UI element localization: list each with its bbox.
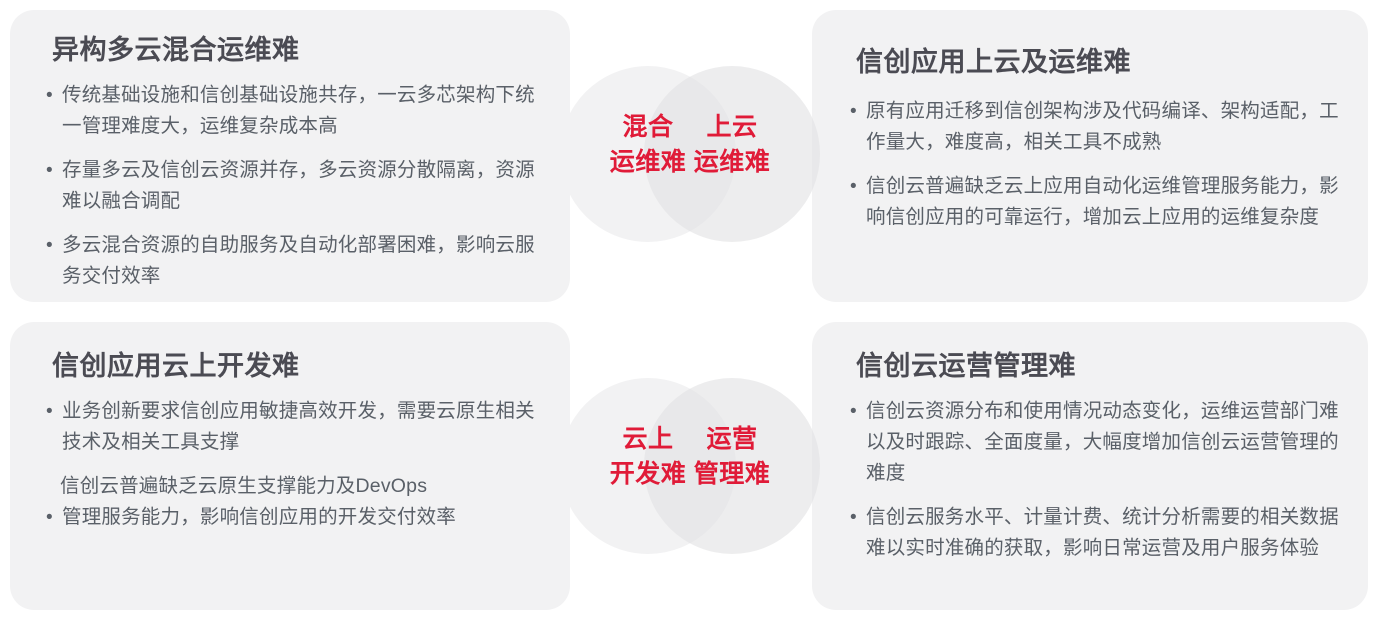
bullet-list: • 信创云资源分布和使用情况动态变化，运维运营部门难以及时跟踪、全面度量，大幅度… [848, 396, 1340, 564]
card-xinchuang-cloud-operations-management: 信创云运营管理难 • 信创云资源分布和使用情况动态变化，运维运营部门难以及时跟踪… [812, 322, 1368, 610]
venn-label-operations-management: 运营 管理难 [667, 422, 797, 492]
bullet-text: 原有应用迁移到信创架构涉及代码编译、架构适配，工作量大，难度高，相关工具不成熟 [866, 96, 1340, 158]
bullet-dot-icon: • [44, 230, 62, 261]
bullet-list: • 业务创新要求信创应用敏捷高效开发，需要云原生相关技术及相关工具支撑 信创云普… [44, 396, 542, 533]
list-item: • 信创云资源分布和使用情况动态变化，运维运营部门难以及时跟踪、全面度量，大幅度… [848, 396, 1340, 489]
card-heterogeneous-multicloud-ops: 异构多云混合运维难 • 传统基础设施和信创基础设施共存，一云多芯架构下统一管理难… [10, 10, 570, 302]
bullet-dot-icon: • [44, 502, 62, 533]
list-item: • 业务创新要求信创应用敏捷高效开发，需要云原生相关技术及相关工具支撑 [44, 396, 542, 458]
list-item: • 原有应用迁移到信创架构涉及代码编译、架构适配，工作量大，难度高，相关工具不成… [848, 96, 1340, 158]
bullet-dot-icon: • [44, 80, 62, 111]
bullet-dot-icon: • [848, 96, 866, 127]
bullet-text: 信创云服务水平、计量计费、统计分析需要的相关数据难以实时准确的获取，影响日常运营… [866, 502, 1340, 564]
bullet-dot-icon: • [44, 396, 62, 427]
list-item: • 信创云服务水平、计量计费、统计分析需要的相关数据难以实时准确的获取，影响日常… [848, 502, 1340, 564]
card-title: 异构多云混合运维难 [52, 34, 542, 66]
bullet-dot-icon: • [848, 396, 866, 427]
list-item: • 多云混合资源的自助服务及自动化部署困难，影响云服务交付效率 [44, 230, 542, 292]
bullet-dot-icon: • [848, 171, 866, 202]
card-xinchuang-app-cloud-migration-ops: 信创应用上云及运维难 • 原有应用迁移到信创架构涉及代码编译、架构适配，工作量大… [812, 10, 1368, 302]
bullet-body: • 管理服务能力，影响信创应用的开发交付效率 [44, 502, 542, 533]
venn-diagram-top: 混合 运维难 上云 运维难 [560, 66, 820, 246]
bullet-dot-icon: • [848, 502, 866, 533]
bullet-text: 业务创新要求信创应用敏捷高效开发，需要云原生相关技术及相关工具支撑 [62, 396, 542, 458]
bullet-text: 管理服务能力，影响信创应用的开发交付效率 [62, 502, 542, 533]
list-item: 信创云普遍缺乏云原生支撑能力及DevOps • 管理服务能力，影响信创应用的开发… [44, 471, 542, 533]
bullet-list: • 传统基础设施和信创基础设施共存，一云多芯架构下统一管理难度大，运维复杂成本高… [44, 80, 542, 292]
card-title: 信创云运营管理难 [856, 350, 1340, 382]
bullet-overflow-line: 信创云普遍缺乏云原生支撑能力及DevOps [60, 471, 542, 502]
list-item: • 存量多云及信创云资源并存，多云资源分散隔离，资源难以融合调配 [44, 155, 542, 217]
list-item: • 信创云普遍缺乏云上应用自动化运维管理服务能力，影响信创应用的可靠运行，增加云… [848, 171, 1340, 233]
card-title: 信创应用云上开发难 [52, 350, 542, 382]
bullet-dot-icon: • [44, 155, 62, 186]
card-title: 信创应用上云及运维难 [856, 46, 1340, 78]
bullet-text: 信创云普遍缺乏云上应用自动化运维管理服务能力，影响信创应用的可靠运行，增加云上应… [866, 171, 1340, 233]
bullet-text: 多云混合资源的自助服务及自动化部署困难，影响云服务交付效率 [62, 230, 542, 292]
diagram-canvas: 异构多云混合运维难 • 传统基础设施和信创基础设施共存，一云多芯架构下统一管理难… [0, 0, 1378, 620]
bullet-text: 传统基础设施和信创基础设施共存，一云多芯架构下统一管理难度大，运维复杂成本高 [62, 80, 542, 142]
venn-diagram-bottom: 云上 开发难 运营 管理难 [560, 378, 820, 558]
list-item: • 传统基础设施和信创基础设施共存，一云多芯架构下统一管理难度大，运维复杂成本高 [44, 80, 542, 142]
venn-label-cloud-migration-ops: 上云 运维难 [667, 110, 797, 180]
bullet-text: 存量多云及信创云资源并存，多云资源分散隔离，资源难以融合调配 [62, 155, 542, 217]
card-xinchuang-app-cloud-development: 信创应用云上开发难 • 业务创新要求信创应用敏捷高效开发，需要云原生相关技术及相… [10, 322, 570, 610]
bullet-text: 信创云资源分布和使用情况动态变化，运维运营部门难以及时跟踪、全面度量，大幅度增加… [866, 396, 1340, 489]
bullet-list: • 原有应用迁移到信创架构涉及代码编译、架构适配，工作量大，难度高，相关工具不成… [848, 96, 1340, 233]
